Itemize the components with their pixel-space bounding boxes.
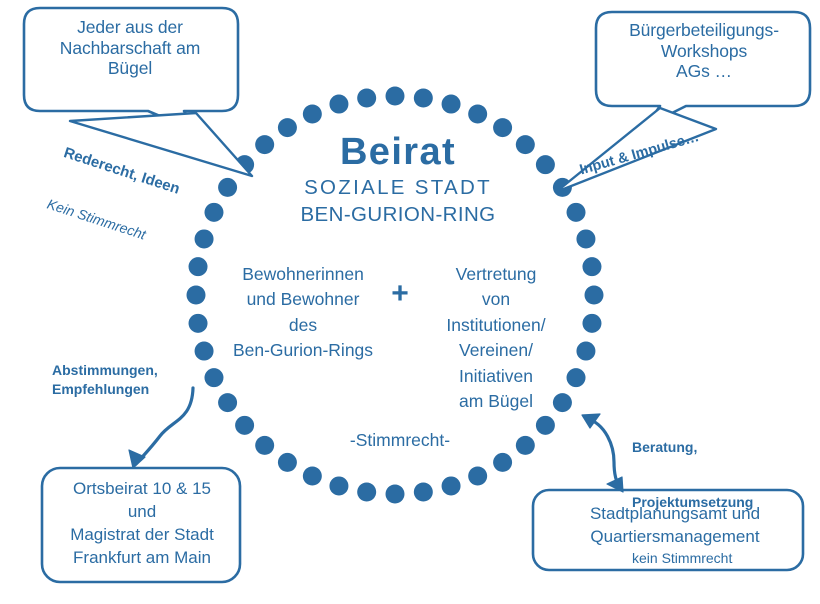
- ring-dot: [204, 368, 223, 387]
- ring-dot: [414, 89, 433, 108]
- ring-dot: [576, 229, 595, 248]
- ring-dot: [516, 436, 535, 455]
- page-subtitle-1: SOZIALE STADT: [258, 176, 538, 200]
- ring-dot: [468, 104, 487, 123]
- ring-dot: [414, 482, 433, 501]
- connector-label-bottom-right-line3: kein Stimmrecht: [632, 549, 753, 567]
- ring-dot: [303, 104, 322, 123]
- bubble-text-top-left: Jeder aus der Nachbarschaft am Bügel: [22, 17, 238, 79]
- ring-dot: [255, 436, 274, 455]
- ring-dot: [536, 416, 555, 435]
- bubble-text-top-right: Bürgerbeteiligungs- Workshops AGs …: [600, 20, 808, 82]
- connector-label-bottom-right: Beratung, Projektumsetzung kein Stimmrec…: [632, 401, 753, 604]
- ring-dot: [582, 257, 601, 276]
- ring-dot: [582, 314, 601, 333]
- ring-dot: [303, 467, 322, 486]
- ring-dot: [567, 203, 586, 222]
- arrow-bottom-right: [582, 414, 623, 492]
- page-title: Beirat: [258, 130, 538, 175]
- connector-label-bottom-right-line1: Beratung,: [632, 438, 753, 456]
- connector-label-top-left-bold: Rederecht, Ideen: [62, 144, 182, 198]
- ring-dot: [204, 203, 223, 222]
- ring-dot: [442, 95, 461, 114]
- ring-dot: [585, 286, 604, 305]
- box-text-bottom-left: Ortsbeirat 10 & 15 und Magistrat der Sta…: [44, 478, 240, 570]
- ring-dot: [386, 485, 405, 504]
- ring-dot: [235, 416, 254, 435]
- ring-dot: [468, 467, 487, 486]
- members-column-residents: Bewohnerinnen und Bewohner des Ben-Gurio…: [216, 262, 390, 364]
- ring-dot: [187, 286, 206, 305]
- connector-label-top-left-italic: Kein Stimmrecht: [45, 196, 165, 249]
- voting-right-note: -Stimmrecht-: [300, 430, 500, 451]
- ring-dot: [218, 178, 237, 197]
- ring-dot: [357, 89, 376, 108]
- ring-dot: [329, 476, 348, 495]
- ring-dot: [278, 453, 297, 472]
- connector-label-bottom-right-line2: Projektumsetzung: [632, 493, 753, 511]
- ring-dot: [493, 453, 512, 472]
- members-column-institutions: Vertretung von Institutionen/ Vereinen/ …: [410, 262, 582, 414]
- ring-dot: [218, 393, 237, 412]
- ring-dot: [189, 314, 208, 333]
- ring-dot: [386, 87, 405, 106]
- ring-dot: [357, 482, 376, 501]
- ring-dot: [195, 342, 214, 361]
- ring-dot: [195, 229, 214, 248]
- ring-dot: [329, 95, 348, 114]
- ring-dot: [536, 155, 555, 174]
- arrow-bottom-left: [129, 388, 193, 468]
- page-subtitle-2: BEN-GURION-RING: [258, 203, 538, 227]
- connector-label-bottom-left: Abstimmungen, Empfehlungen: [52, 361, 158, 399]
- ring-dot: [189, 257, 208, 276]
- ring-dot: [442, 476, 461, 495]
- diagram-canvas: Jeder aus der Nachbarschaft am Bügel Bür…: [0, 0, 820, 600]
